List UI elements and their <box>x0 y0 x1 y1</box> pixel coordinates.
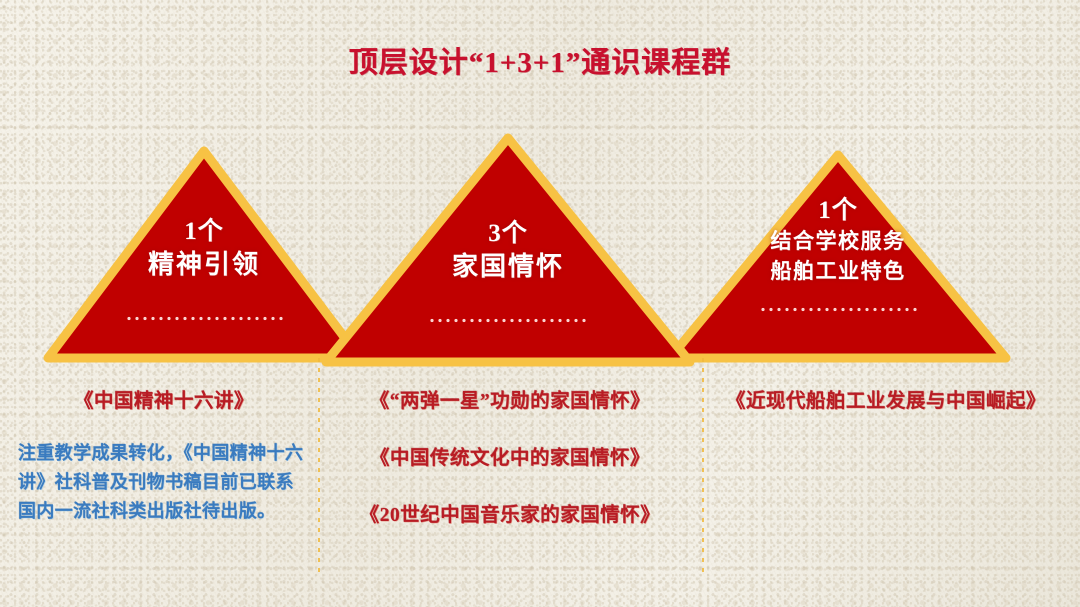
pillar-2-content-column: 《“两弹一星”功勋的家国情怀》 《中国传统文化中的家国情怀》 《20世纪中国音乐… <box>326 384 694 527</box>
column-divider-left <box>318 358 320 572</box>
pillar-3-triangle-labels: 1个 结合学校服务 船舶工业特色 <box>670 155 1006 358</box>
pillar-3-content-column: 《近现代船舶工业发展与中国崛起》 <box>706 384 1066 413</box>
pillar-1-dotted-rule <box>125 316 283 321</box>
pillar-1-triangle-labels: 1个 精神引领 <box>48 151 360 358</box>
column-divider-right <box>702 358 704 572</box>
pillar-1-theme: 精神引领 <box>48 250 360 280</box>
course-title[interactable]: 《20世纪中国音乐家的家国情怀》 <box>326 498 694 527</box>
pillar-1-content-column: 《中国精神十六讲》 注重教学成果转化，《中国精神十六讲》社科普及刊物书稿目前已联… <box>18 384 310 526</box>
pillar-3-theme-line-2: 船舶工业特色 <box>670 259 1006 283</box>
course-title[interactable]: 《中国传统文化中的家国情怀》 <box>326 441 694 470</box>
pillar-1-count: 1个 <box>48 217 360 246</box>
pillar-1-note: 注重教学成果转化，《中国精神十六讲》社科普及刊物书稿目前已联系国内一流社科类出版… <box>18 439 310 526</box>
pillar-3-count: 1个 <box>670 196 1006 225</box>
course-title[interactable]: 《“两弹一星”功勋的家国情怀》 <box>326 384 694 413</box>
course-title[interactable]: 《近现代船舶工业发展与中国崛起》 <box>706 384 1066 413</box>
pillar-2-theme: 家国情怀 <box>326 252 690 282</box>
pillar-2-dotted-rule <box>428 318 586 323</box>
pillar-2-triangle-labels: 3个 家国情怀 <box>326 138 690 362</box>
course-title[interactable]: 《中国精神十六讲》 <box>18 384 310 413</box>
pillar-3-theme-line-1: 结合学校服务 <box>670 229 1006 253</box>
pillar-2-count: 3个 <box>326 219 690 248</box>
pillar-3-dotted-rule <box>759 307 917 312</box>
